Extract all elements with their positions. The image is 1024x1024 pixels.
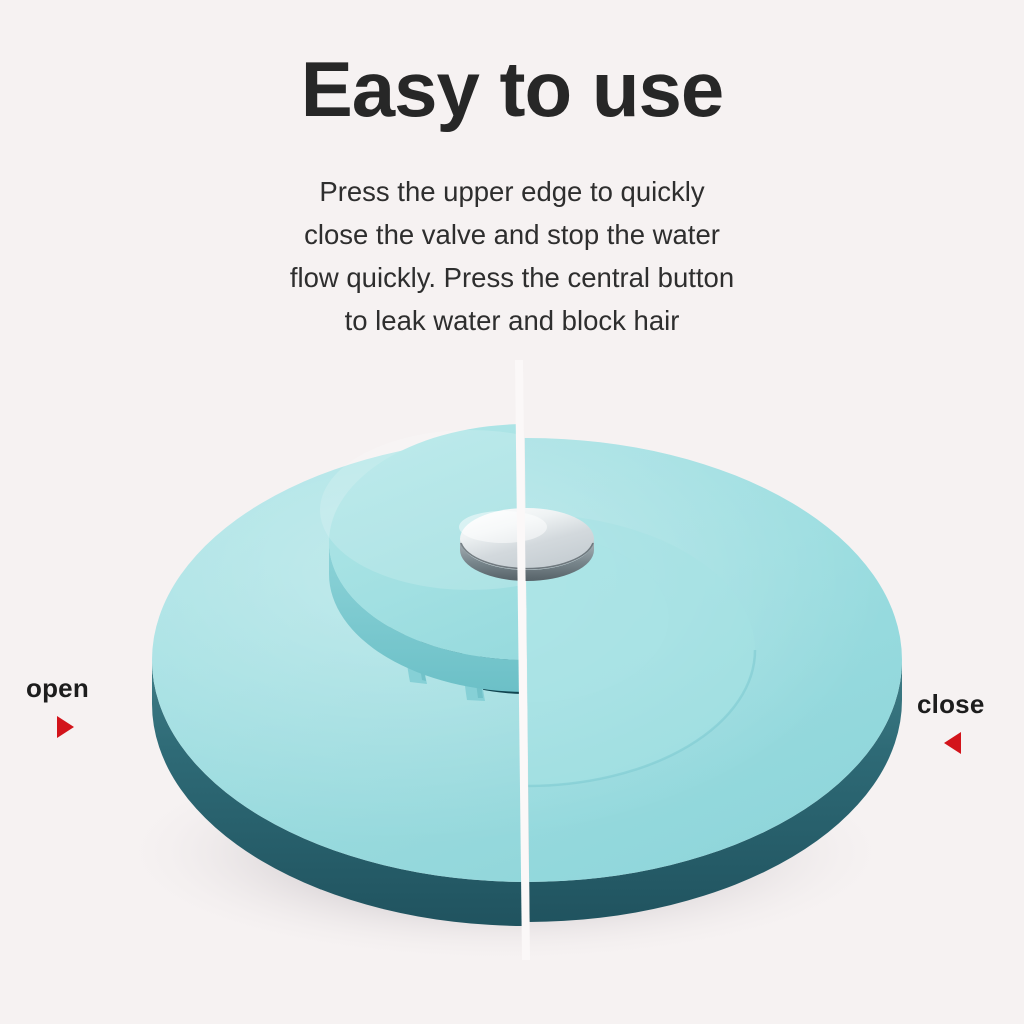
- infographic-canvas: Easy to use Press the upper edge to quic…: [0, 0, 1024, 1024]
- caption-open: open: [26, 673, 89, 704]
- caption-close: close: [917, 689, 985, 720]
- description-line-2: close the valve and stop the water: [232, 213, 792, 256]
- product-illustration: [0, 360, 1024, 960]
- triangle-right-icon: [57, 716, 74, 738]
- center-button[interactable]: [459, 508, 594, 581]
- description-line-3: flow quickly. Press the central button: [232, 256, 792, 299]
- description-line-4: to leak water and block hair: [232, 299, 792, 342]
- center-button-highlight: [459, 511, 547, 543]
- description-text: Press the upper edge to quickly close th…: [232, 170, 792, 342]
- page-title: Easy to use: [0, 46, 1024, 132]
- triangle-left-icon: [944, 732, 961, 754]
- description-line-1: Press the upper edge to quickly: [232, 170, 792, 213]
